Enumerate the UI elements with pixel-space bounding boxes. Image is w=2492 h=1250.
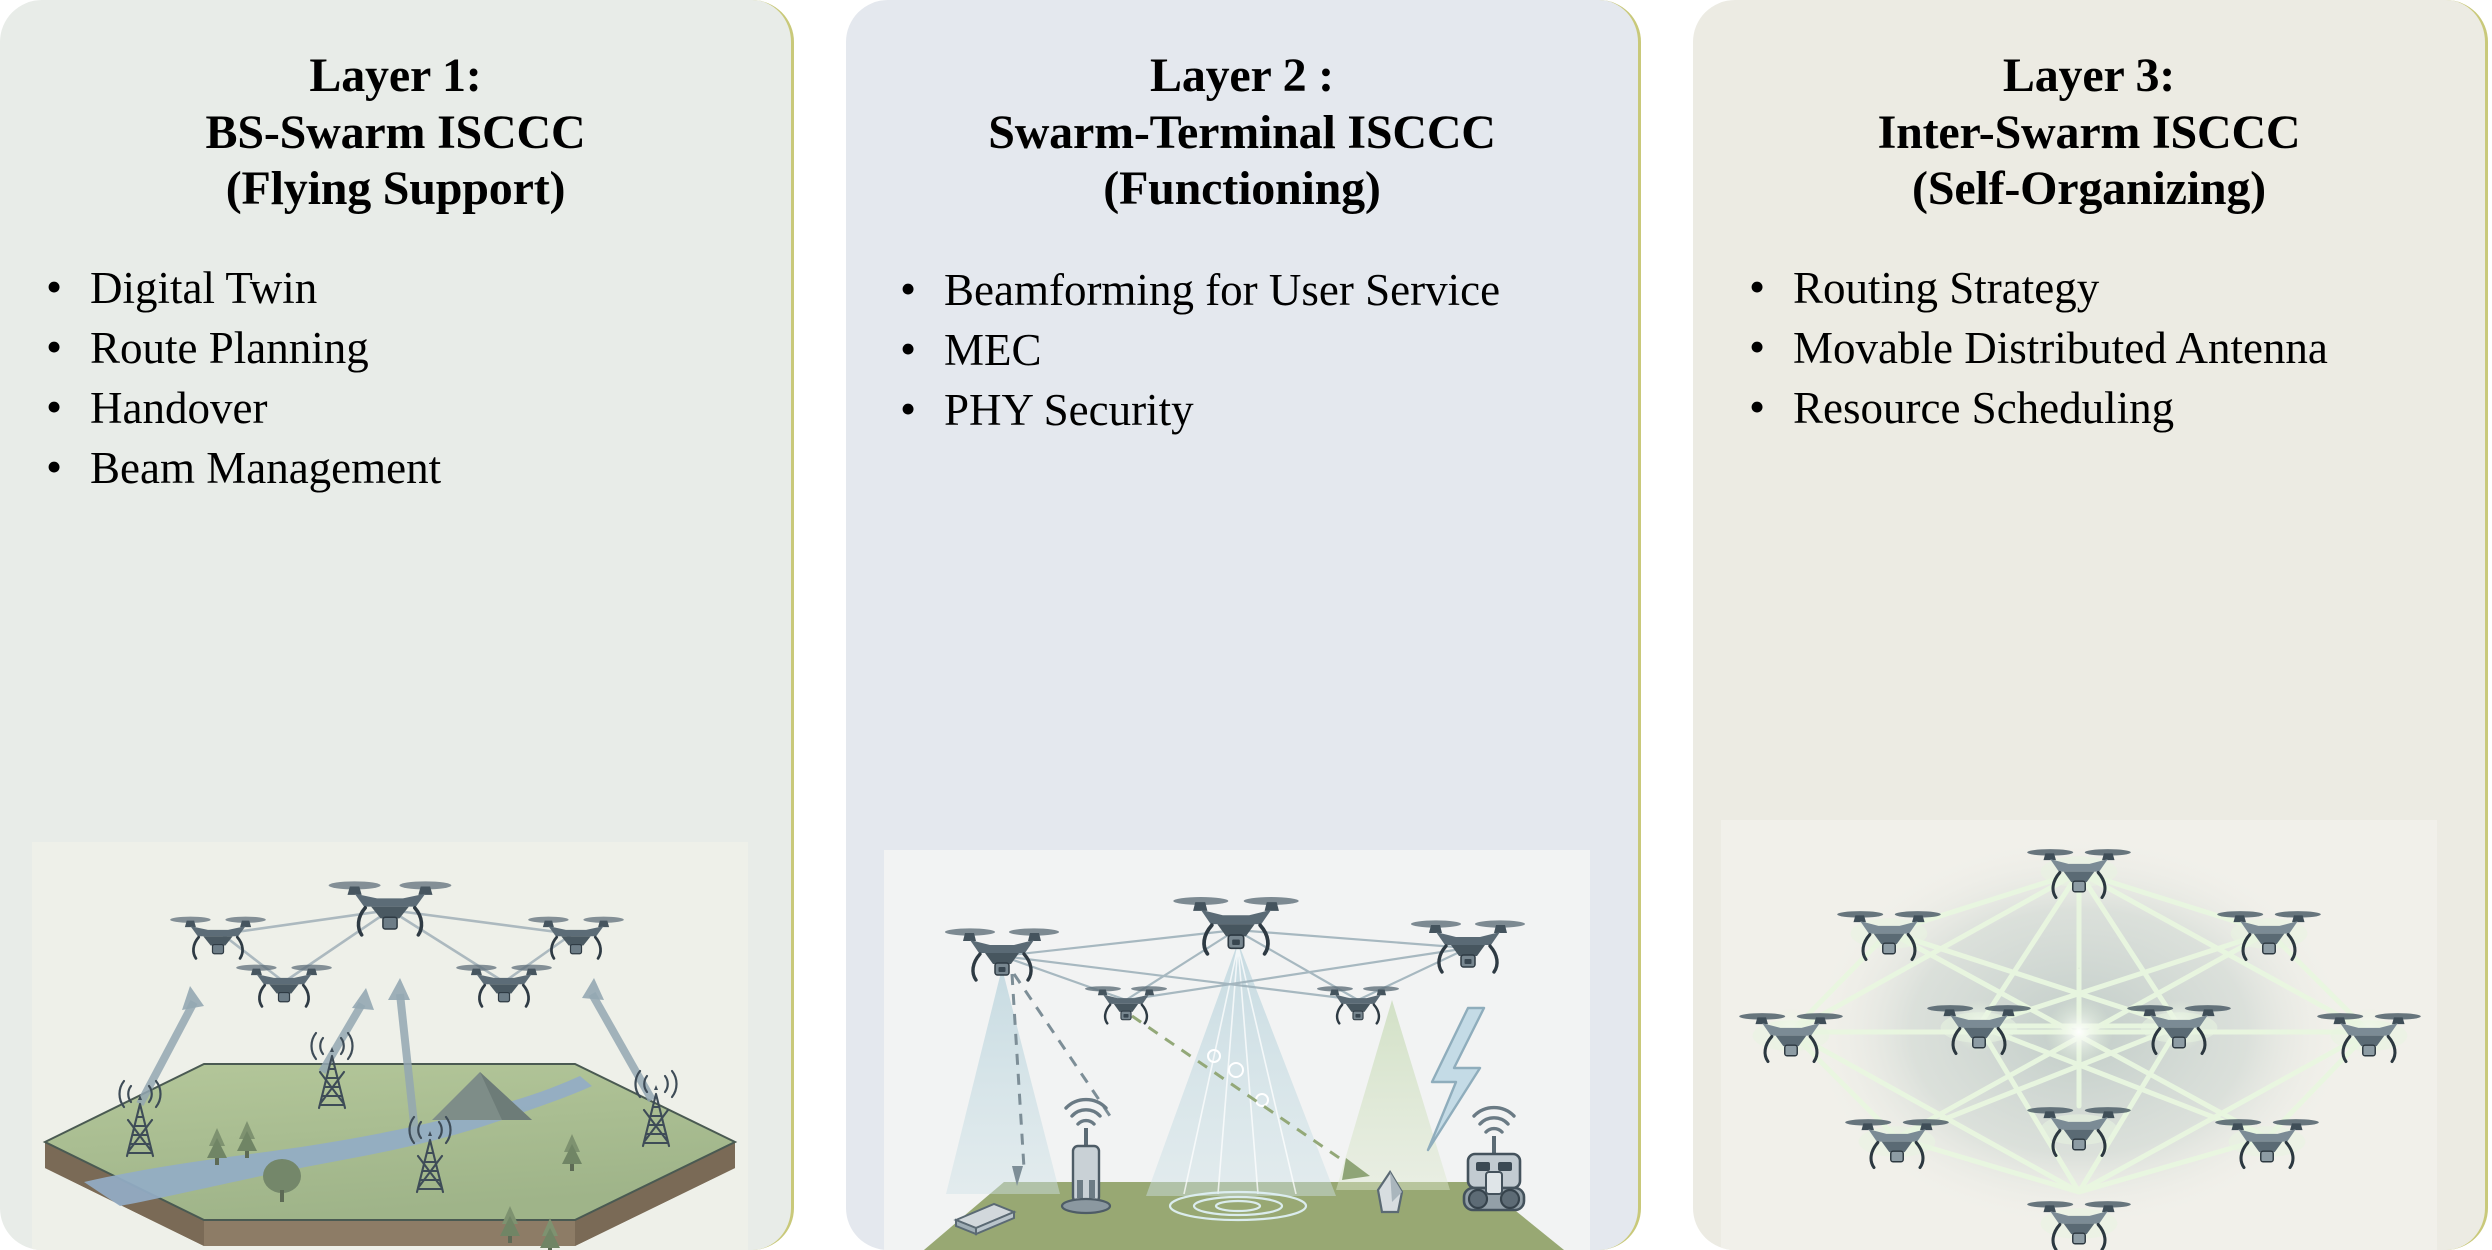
card-layer-3-bullet-list: Routing Strategy Movable Distributed Ant… [1693,218,2485,443]
card-layer-1-title: Layer 1: BS-Swarm ISCCC (Flying Support) [0,0,791,218]
card-layer-3: Layer 3: Inter-Swarm ISCCC (Self-Organiz… [1693,0,2488,1250]
list-item: Routing Strategy [1747,262,2433,314]
spacer [1693,442,2485,820]
title-line-2: Swarm-Terminal ISCCC [874,105,1610,162]
title-line-1: Layer 3: [1721,48,2457,105]
title-line-3: (Flying Support) [28,161,763,218]
list-item: Resource Scheduling [1747,382,2433,434]
inter-swarm-mesh-illustration [1721,820,2437,1250]
list-item: PHY Security [898,384,1584,436]
list-item: Route Planning [44,322,730,374]
title-line-2: BS-Swarm ISCCC [28,105,763,162]
spacer [846,444,1638,850]
title-line-1: Layer 2 : [874,48,1610,105]
list-item: Digital Twin [44,262,730,314]
list-item: Handover [44,382,730,434]
title-line-3: (Self-Organizing) [1721,161,2457,218]
list-item: Movable Distributed Antenna [1747,322,2433,374]
title-line-3: (Functioning) [874,161,1610,218]
card-layer-2: Layer 2 : Swarm-Terminal ISCCC (Function… [846,0,1641,1250]
title-line-1: Layer 1: [28,48,763,105]
list-item: Beamforming for User Service [898,264,1584,316]
spacer [0,503,791,842]
card-layer-2-title: Layer 2 : Swarm-Terminal ISCCC (Function… [846,0,1638,218]
title-line-2: Inter-Swarm ISCCC [1721,105,2457,162]
card-layer-1: Layer 1: BS-Swarm ISCCC (Flying Support)… [0,0,794,1250]
list-item: MEC [898,324,1584,376]
bs-swarm-terrain-illustration [32,842,748,1250]
list-item: Beam Management [44,442,730,494]
swarm-terminal-beamforming-illustration [884,850,1590,1250]
card-layer-3-title: Layer 3: Inter-Swarm ISCCC (Self-Organiz… [1693,0,2485,218]
card-layer-2-bullet-list: Beamforming for User Service MEC PHY Sec… [846,218,1638,445]
layer-cards-board: Layer 1: BS-Swarm ISCCC (Flying Support)… [0,0,2492,1250]
card-layer-1-bullet-list: Digital Twin Route Planning Handover Bea… [0,218,791,503]
